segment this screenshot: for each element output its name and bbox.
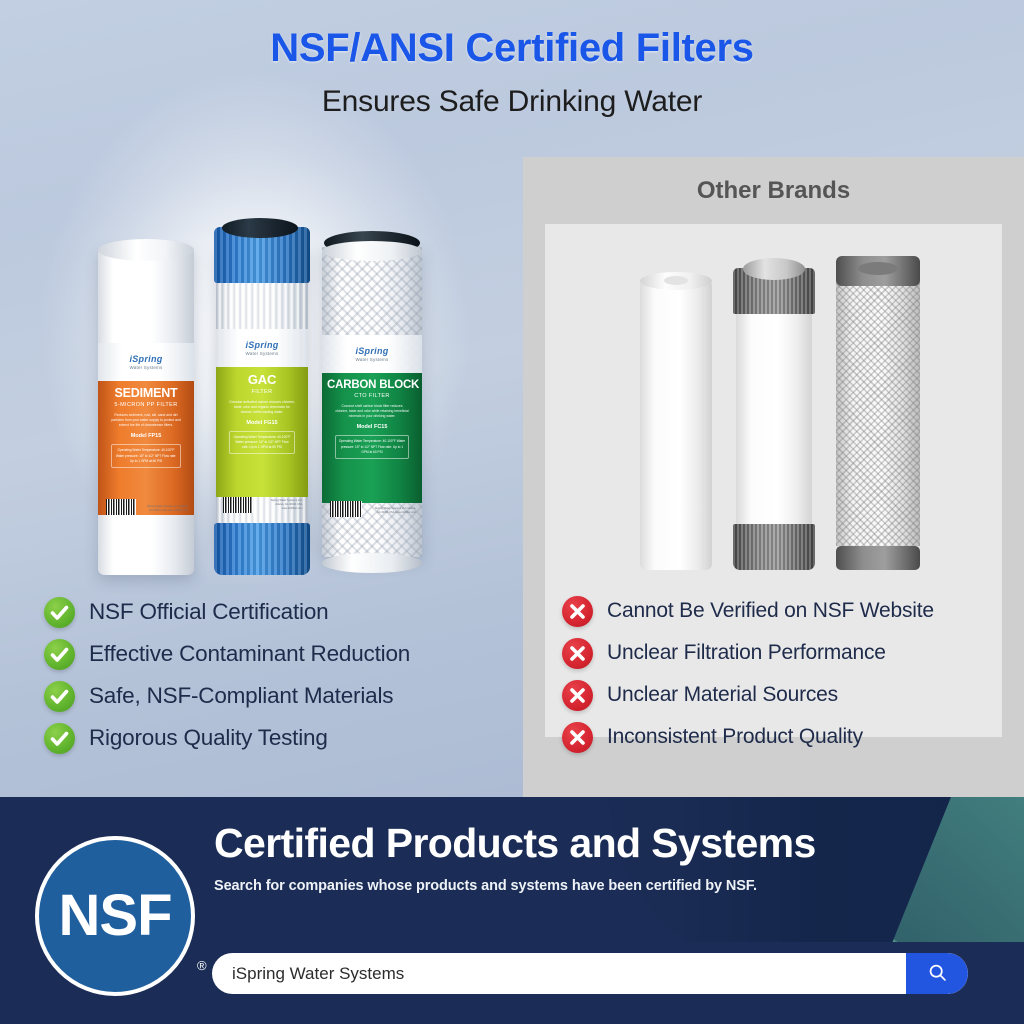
carbon-block-label: CARBON BLOCK CTO FILTER Coconut shell ca… (322, 373, 422, 503)
filter-name: CARBON BLOCK (327, 379, 417, 391)
hero-section: NSF/ANSI Certified Filters Ensures Safe … (0, 0, 1024, 797)
banner-title: Certified Products and Systems (214, 820, 1004, 867)
generic-filter-group (640, 250, 970, 570)
cartridge-body: iSpring Water Systems CARBON BLOCK CTO F… (322, 247, 422, 557)
brand-strip: iSpring Water Systems (322, 335, 422, 373)
gac-filter-cartridge: iSpring Water Systems GAC FILTER Granula… (216, 219, 308, 575)
cartridge-bottom-cap (733, 524, 815, 570)
check-icon (44, 681, 75, 712)
filter-description: Reduces sediment, rust, silt, sand and d… (103, 413, 189, 428)
filter-model: Model FP15 (103, 433, 189, 439)
cartridge-body (640, 280, 712, 570)
list-item-label: Unclear Filtration Performance (607, 641, 886, 665)
manufacturer-info: iSpring Water Systems LLC Atlanta, GA 30… (262, 499, 302, 511)
barcode (106, 499, 137, 515)
list-item: Inconsistent Product Quality (562, 716, 934, 758)
search-bar[interactable] (212, 953, 968, 994)
list-item: Effective Contaminant Reduction (44, 633, 410, 675)
generic-sediment-cartridge (640, 270, 712, 570)
cartridge-body: iSpring Water Systems SEDIMENT 5-MICRON … (98, 247, 194, 575)
list-item-label: Unclear Material Sources (607, 683, 838, 707)
filter-subtitle: 5-MICRON PP FILTER (103, 402, 189, 408)
list-item: Unclear Filtration Performance (562, 632, 934, 674)
generic-gac-cartridge (736, 260, 812, 570)
filter-model: Model FG15 (221, 420, 303, 426)
list-item: Cannot Be Verified on NSF Website (562, 590, 934, 632)
gac-label: GAC FILTER Granular activated carbon red… (216, 367, 308, 497)
manufacturer-info: iSpring Water Systems LLC Atlanta, GA 30… (372, 507, 416, 515)
cartridge-body (836, 278, 920, 546)
cross-icon (562, 722, 593, 753)
filter-description: Coconut shell carbon block filter reduce… (327, 404, 417, 419)
cartridge-body: iSpring Water Systems GAC FILTER Granula… (216, 247, 308, 547)
other-brands-title: Other Brands (697, 177, 850, 205)
filter-model: Model FC15 (327, 424, 417, 430)
cartridge-bottom-cap (214, 523, 310, 575)
list-item: Safe, NSF-Compliant Materials (44, 675, 410, 717)
list-item-label: Safe, NSF-Compliant Materials (89, 683, 393, 709)
filter-description: Granular activated carbon reduces chlori… (221, 400, 303, 415)
ispring-logo: iSpring (129, 354, 162, 364)
cartridge-top-cap (98, 239, 194, 261)
sediment-label: SEDIMENT 5-MICRON PP FILTER Reduces sedi… (98, 381, 194, 515)
filter-name: SEDIMENT (103, 387, 189, 400)
cartridge-top-cap (640, 272, 712, 290)
other-brands-header: Other Brands (523, 157, 1024, 224)
magnifier-icon (927, 962, 948, 986)
nsf-registered-mark: ® (197, 958, 204, 990)
header: NSF/ANSI Certified Filters Ensures Safe … (0, 26, 1024, 119)
cartridge-top-cap (733, 268, 815, 314)
list-item: Unclear Material Sources (562, 674, 934, 716)
list-item-label: Cannot Be Verified on NSF Website (607, 599, 934, 623)
cross-icon (562, 638, 593, 669)
check-icon (44, 639, 75, 670)
list-item: Rigorous Quality Testing (44, 717, 410, 759)
cross-icon (562, 680, 593, 711)
filter-subtitle: CTO FILTER (327, 393, 417, 399)
list-item-label: Rigorous Quality Testing (89, 725, 328, 751)
nsf-logo-text: NSF (59, 887, 172, 945)
barcode (223, 497, 252, 513)
cartridge-top-cap (214, 227, 310, 283)
ispring-tagline: Water Systems (356, 357, 389, 362)
page-subtitle: Ensures Safe Drinking Water (0, 85, 1024, 119)
ispring-logo: iSpring (355, 346, 388, 356)
ispring-logo: iSpring (245, 340, 278, 350)
banner-subtitle: Search for companies whose products and … (214, 878, 1004, 894)
pros-list: NSF Official Certification Effective Con… (44, 591, 410, 759)
cartridge-top-cap (836, 256, 920, 286)
brand-strip: iSpring Water Systems (216, 329, 308, 367)
filter-specs: Operating Water Temperature: 40-100°F Wa… (335, 435, 409, 458)
cons-list: Cannot Be Verified on NSF Website Unclea… (562, 590, 934, 758)
cartridge-top-cap (324, 231, 420, 255)
cartridge-body (736, 302, 812, 526)
list-item: NSF Official Certification (44, 591, 410, 633)
ispring-filter-group: iSpring Water Systems SEDIMENT 5-MICRON … (90, 210, 440, 575)
manufacturer-info: iSpring Water Systems LLC Atlanta, GA 30… (146, 505, 188, 513)
list-item-label: NSF Official Certification (89, 599, 328, 625)
barcode (330, 501, 362, 517)
brand-strip: iSpring Water Systems (98, 343, 194, 381)
check-icon (44, 597, 75, 628)
cartridge-bottom-cap (322, 553, 422, 573)
ispring-tagline: Water Systems (130, 365, 163, 370)
carbon-block-filter-cartridge: iSpring Water Systems CARBON BLOCK CTO F… (322, 225, 422, 575)
filter-subtitle: FILTER (221, 389, 303, 395)
filter-specs: Operating Water Temperature: 40-100°F Wa… (229, 431, 295, 454)
page-title: NSF/ANSI Certified Filters (0, 26, 1024, 71)
sediment-filter-cartridge: iSpring Water Systems SEDIMENT 5-MICRON … (98, 235, 194, 575)
list-item-label: Inconsistent Product Quality (607, 725, 863, 749)
filter-specs: Operating Water Temperature: 40-100°F Wa… (111, 444, 181, 467)
banner-text-block: Certified Products and Systems Search fo… (214, 820, 1004, 894)
generic-carbon-cartridge (836, 252, 920, 570)
filter-name: GAC (221, 373, 303, 387)
cartridge-bottom-cap (836, 546, 920, 570)
ispring-tagline: Water Systems (246, 351, 279, 356)
nsf-logo: NSF ® (35, 836, 195, 996)
check-icon (44, 723, 75, 754)
cross-icon (562, 596, 593, 627)
list-item-label: Effective Contaminant Reduction (89, 641, 410, 667)
search-button[interactable] (906, 953, 968, 994)
search-input[interactable] (212, 953, 906, 994)
